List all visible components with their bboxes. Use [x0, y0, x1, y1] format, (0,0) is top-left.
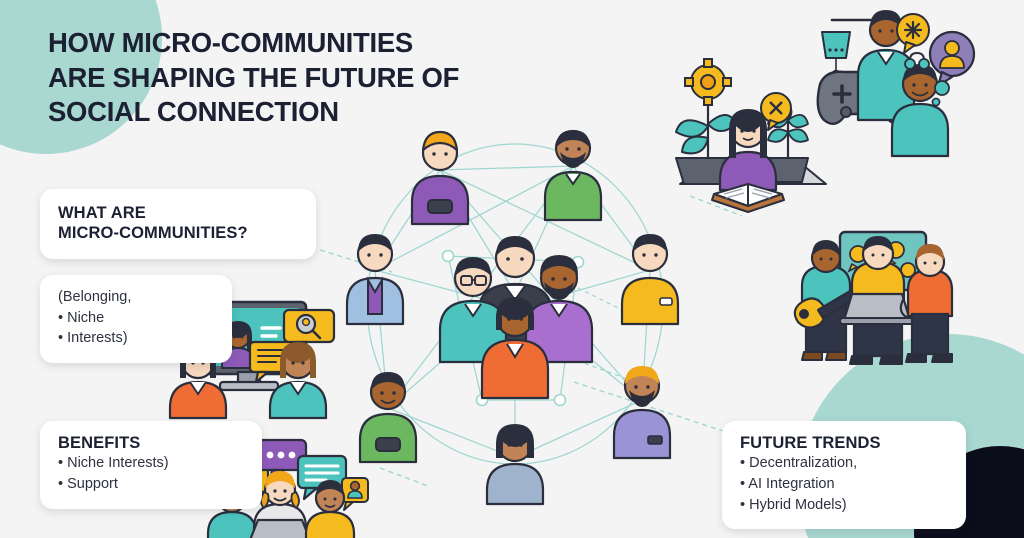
card-definition-body: (Belonging, • Niche • Interests): [58, 287, 214, 349]
definition-line-1: (Belonging,: [58, 287, 214, 308]
future-line-3: • Hybrid Models): [740, 495, 948, 516]
future-line-2: • AI Integration: [740, 474, 948, 495]
card-what-are-title: WHAT ARE MICRO-COMMUNITIES?: [58, 203, 298, 244]
card-benefits-body: • Niche Interests) • Support: [58, 453, 244, 494]
network-person-yellow-tee: [622, 234, 678, 324]
definition-line-3: • Interests): [58, 328, 214, 349]
card-future-trends-body: • Decentralization, • AI Integration • H…: [740, 453, 948, 515]
card-what-are-title-line-2: MICRO-COMMUNITIES?: [58, 224, 248, 242]
gaming-community-illustration: [806, 4, 1006, 156]
card-benefits-title: BENEFITS: [58, 433, 244, 453]
star-bubble-icon: [897, 14, 929, 53]
card-future-trends[interactable]: FUTURE TRENDS • Decentralization, • AI I…: [722, 421, 966, 529]
card-benefits[interactable]: BENEFITS • Niche Interests) • Support: [40, 421, 262, 509]
future-line-1: • Decentralization,: [740, 453, 948, 474]
chat-bubble-avatar: [342, 478, 368, 510]
benefits-line-2: • Support: [58, 474, 244, 495]
network-person-cardigan-blue: [347, 234, 403, 324]
card-what-are-micro-communities[interactable]: WHAT ARE MICRO-COMMUNITIES?: [40, 189, 316, 259]
infographic-canvas: HOW MICRO-COMMUNITIES ARE SHAPING THE FU…: [0, 0, 1024, 538]
card-what-are-title-line-1: WHAT ARE: [58, 204, 146, 222]
benefits-line-1: • Niche Interests): [58, 453, 244, 474]
card-definition[interactable]: (Belonging, • Niche • Interests): [40, 275, 232, 363]
network-person-gamer-blonde: [412, 132, 468, 224]
definition-line-2: • Niche: [58, 308, 214, 329]
network-person-bearded-green: [545, 130, 601, 220]
card-future-trends-title: FUTURE TRENDS: [740, 433, 948, 453]
music-band-illustration: [796, 228, 996, 378]
bubble-dot-small: [932, 98, 939, 105]
network-center-group: [440, 236, 592, 398]
network-person-bottom-woman: [487, 424, 543, 504]
network-person-beard-purple: [614, 366, 670, 458]
bubble-dot-large: [935, 81, 949, 95]
